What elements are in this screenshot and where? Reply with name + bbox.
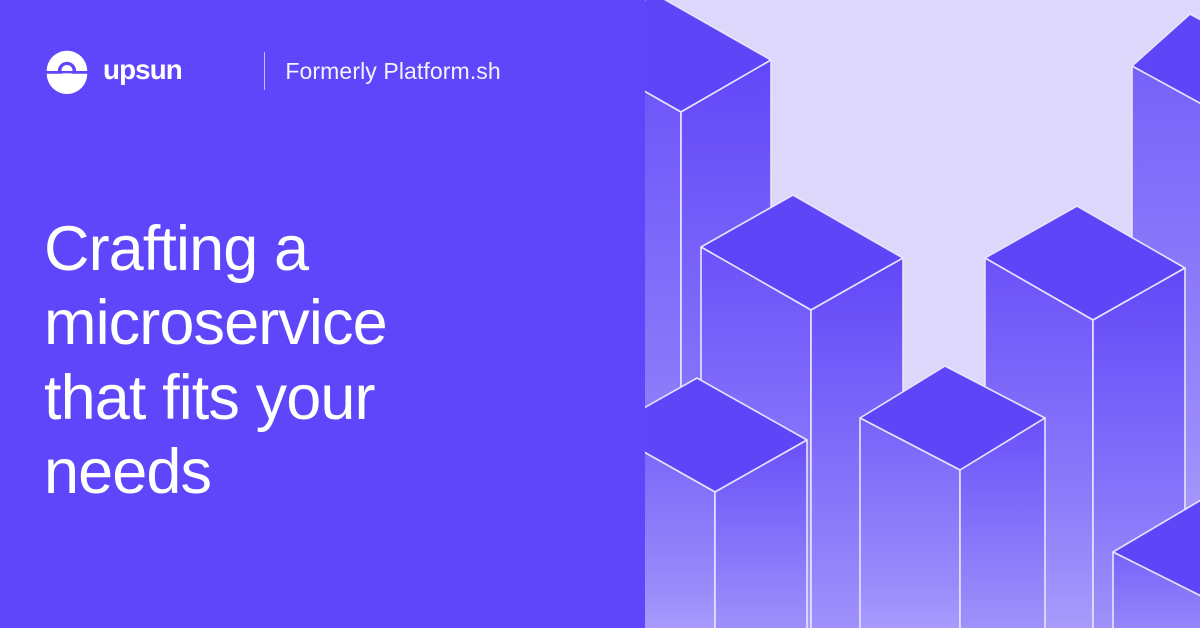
social-card: upsun Formerly Platform.sh Crafting a mi… — [0, 0, 1200, 628]
svg-text:upsun: upsun — [103, 56, 182, 85]
headline-line-3: that fits your — [44, 361, 564, 435]
upsun-mark-icon — [44, 48, 90, 94]
upsun-wordmark: upsun — [103, 56, 242, 86]
headline-line-4: needs — [44, 435, 564, 509]
headline-line-2: microservice — [44, 286, 564, 360]
headline-line-1: Crafting a — [44, 212, 564, 286]
brand-divider — [264, 52, 266, 90]
column-centre-low — [860, 366, 1045, 628]
page-title: Crafting a microservice that fits your n… — [44, 212, 564, 509]
brand-tagline: Formerly Platform.sh — [285, 60, 500, 83]
isometric-artwork-svg — [645, 0, 1200, 628]
brand-panel: upsun Formerly Platform.sh Crafting a mi… — [0, 0, 645, 628]
upsun-logo[interactable]: upsun — [44, 48, 242, 94]
isometric-columns-illustration — [645, 0, 1200, 628]
brand-lockup: upsun Formerly Platform.sh — [44, 48, 605, 94]
